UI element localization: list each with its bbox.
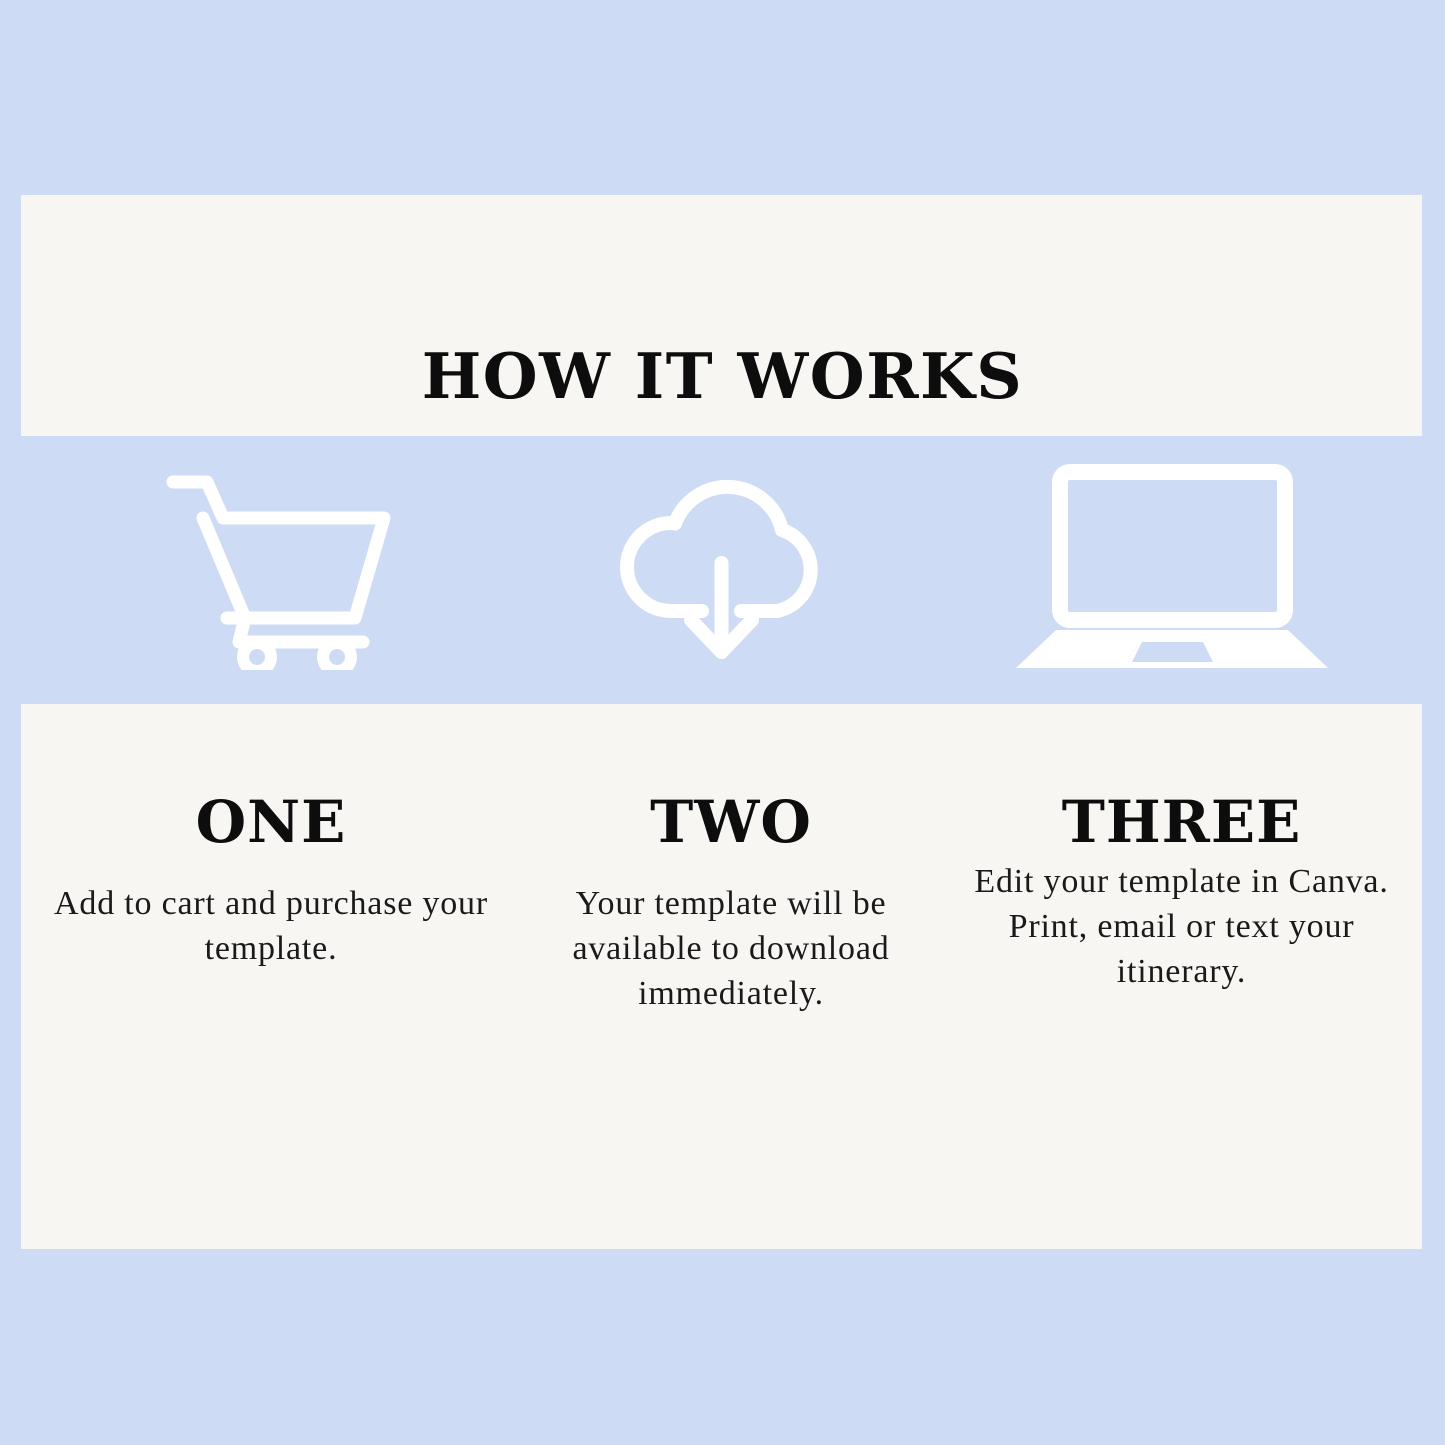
step-three: THREE Edit your template in Canva. Print…: [941, 704, 1422, 994]
how-it-works-graphic: HOW IT WORKS: [0, 0, 1445, 1445]
step-two-body: Your template will be available to downl…: [521, 881, 941, 1016]
icon-slot-two: [476, 436, 966, 704]
step-one-heading: ONE: [21, 792, 521, 853]
steps-row: ONE Add to cart and purchase your templa…: [21, 704, 1422, 1249]
icon-band: [21, 436, 1422, 704]
step-one-body: Add to cart and purchase your template.: [21, 881, 521, 971]
step-two: TWO Your template will be available to d…: [521, 704, 941, 1016]
step-three-body: Edit your template in Canva. Print, emai…: [941, 859, 1422, 994]
cloud-download-icon: [619, 475, 824, 665]
shopping-cart-icon: [165, 470, 397, 670]
icon-slot-three: [921, 436, 1422, 704]
step-one: ONE Add to cart and purchase your templa…: [21, 704, 521, 971]
icon-slot-one: [21, 436, 541, 704]
laptop-icon: [1014, 464, 1330, 676]
step-two-heading: TWO: [521, 792, 941, 853]
step-three-heading: THREE: [941, 792, 1422, 853]
page-title: HOW IT WORKS: [0, 345, 1445, 408]
